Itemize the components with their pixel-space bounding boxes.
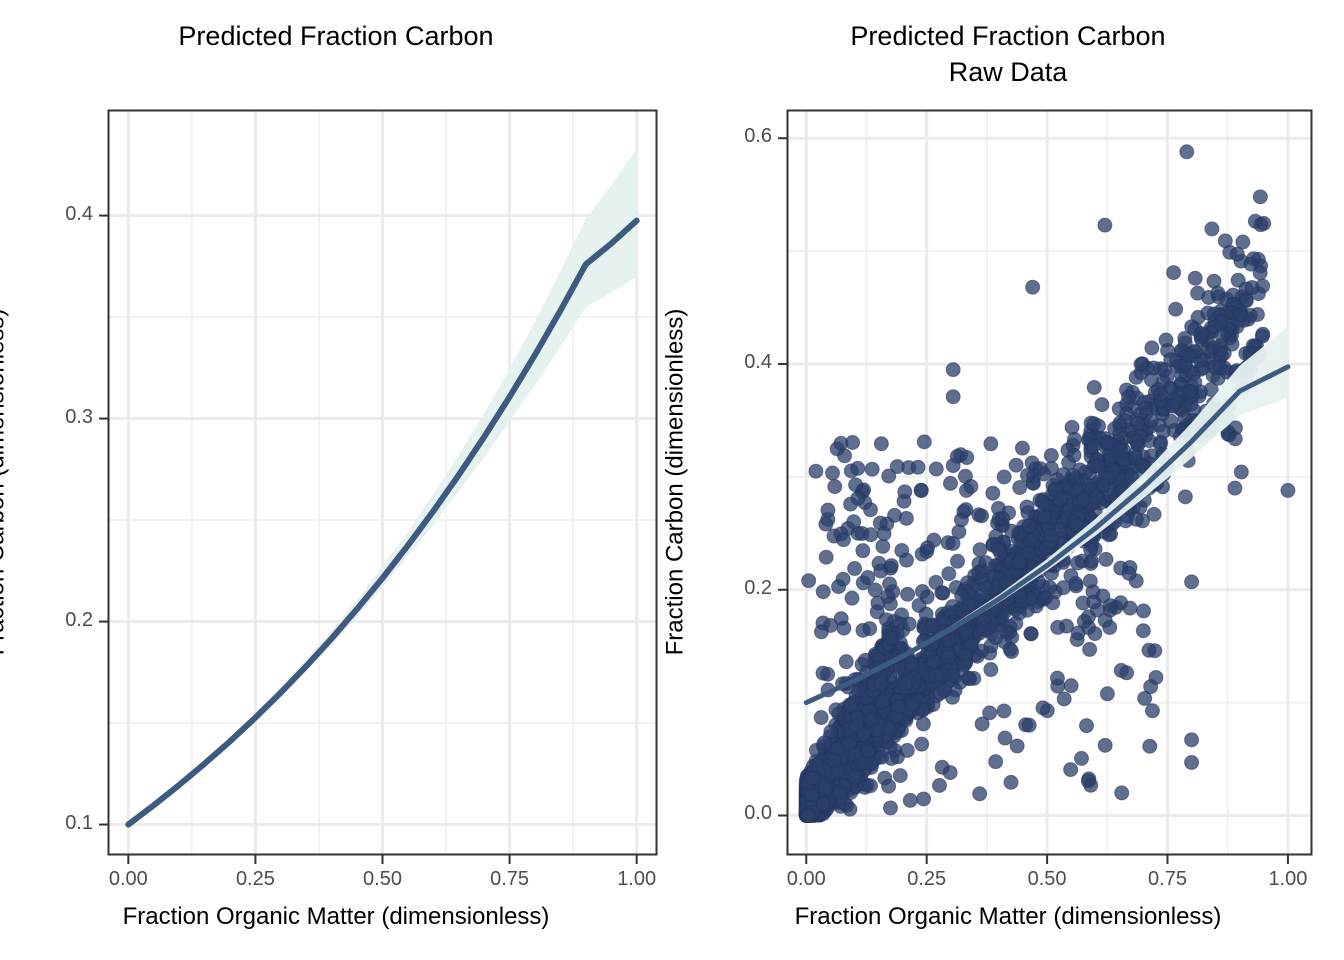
x-tick-label: 1.00 bbox=[1238, 868, 1338, 891]
x-tick-label: 0.25 bbox=[877, 868, 977, 891]
right-plot-canvas bbox=[672, 0, 1344, 960]
y-tick-label: 0.2 bbox=[682, 577, 772, 600]
x-axis-title: Fraction Organic Matter (dimensionless) bbox=[0, 903, 672, 931]
y-tick-label: 0.0 bbox=[682, 802, 772, 825]
y-tick-label: 0.6 bbox=[682, 125, 772, 148]
y-tick-label: 0.4 bbox=[3, 203, 93, 226]
x-tick-label: 0.50 bbox=[997, 868, 1097, 891]
x-tick-label: 0.50 bbox=[333, 868, 433, 891]
x-tick-label: 0.75 bbox=[460, 868, 560, 891]
x-axis-title: Fraction Organic Matter (dimensionless) bbox=[672, 903, 1344, 931]
panel-predicted-fraction-carbon-raw-data: Predicted Fraction Carbon Raw Data 0.000… bbox=[672, 0, 1344, 960]
figure-root: Predicted Fraction Carbon 0.000.250.500.… bbox=[0, 0, 1344, 960]
x-tick-label: 0.75 bbox=[1118, 868, 1218, 891]
left-plot-canvas bbox=[0, 0, 672, 960]
y-tick-label: 0.2 bbox=[3, 609, 93, 632]
y-tick-label: 0.4 bbox=[682, 351, 772, 374]
panel-predicted-fraction-carbon: Predicted Fraction Carbon 0.000.250.500.… bbox=[0, 0, 672, 960]
y-tick-label: 0.1 bbox=[3, 812, 93, 835]
x-tick-label: 0.00 bbox=[78, 868, 178, 891]
y-axis-title: Fraction Carbon (dimensionless) bbox=[661, 109, 689, 854]
y-axis-title: Fraction Carbon (dimensionless) bbox=[0, 109, 10, 854]
x-tick-label: 0.00 bbox=[756, 868, 856, 891]
y-tick-label: 0.3 bbox=[3, 406, 93, 429]
x-tick-label: 0.25 bbox=[205, 868, 305, 891]
